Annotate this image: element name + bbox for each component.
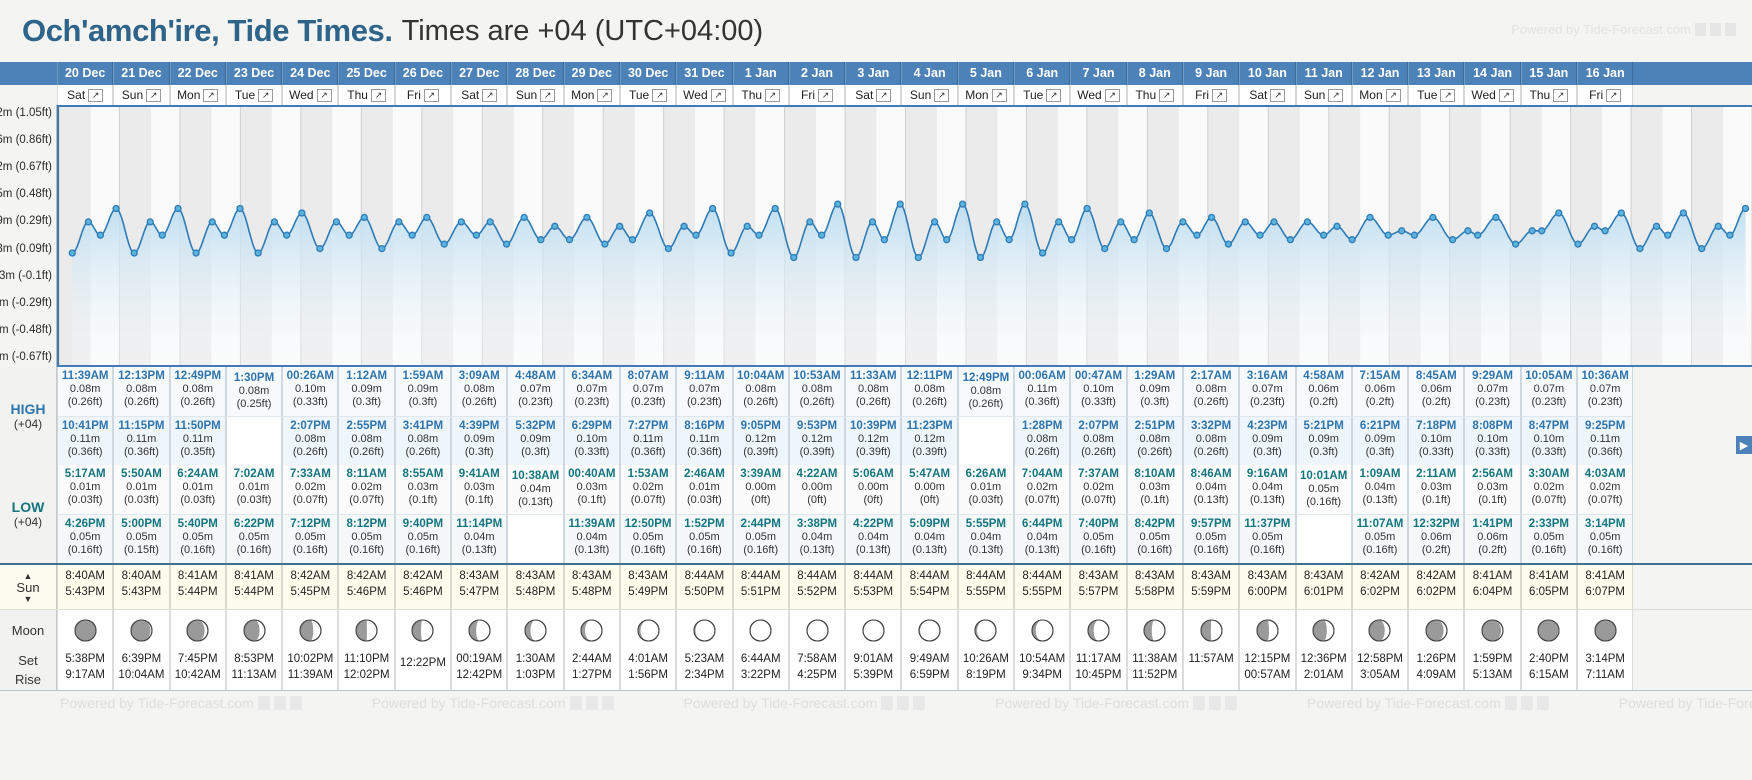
expand-icon[interactable]: ↗ [652,89,667,102]
scroll-right-button[interactable]: ▶ [1736,436,1752,454]
high-tide-cell: 1:59AM0.09m(0.3ft) [395,367,451,416]
date-header-cell[interactable]: 30 Dec [620,62,676,85]
high-tide-cell: 8:16PM0.11m(0.36ft) [676,416,732,465]
moon-phase-icon [637,619,660,642]
high-tide-point [113,206,119,212]
footer-watermark-icon [1193,696,1205,710]
high-tide-cell: 1:29AM0.09m(0.3ft) [1127,367,1183,416]
high-tide-height-ft: (0.3ft) [452,446,506,459]
low-tide-point [978,255,984,261]
high-tide-height-ft: (0.3ft) [1240,446,1294,459]
expand-icon[interactable]: ↗ [992,89,1007,102]
moon-phase-icon [130,619,153,642]
footer-watermark-label: Powered by Tide-Forecast.com [1307,695,1501,711]
low-tide-cell: 5:00PM0.05m(0.15ft) [113,514,169,563]
low-tide-column: 2:56AM0.03m(0.1ft)1:41PM0.06m(0.2ft) [1464,465,1520,563]
sunrise-time: 8:43AM [1128,570,1182,582]
moon-cell [1521,610,1577,650]
high-tide-cell: 10:53AM0.08m(0.26ft) [789,367,845,416]
low-tide-point [1194,232,1200,238]
high-tide-time: 8:47PM [1522,420,1576,433]
weekday-cell: Mon↗ [170,85,226,105]
low-tide-point [473,232,479,238]
high-tide-time: 8:08PM [1465,420,1519,433]
high-tide-height-m: 0.11m [114,433,168,446]
low-tide-column: 4:03AM0.02m(0.07ft)3:14PM0.05m(0.16ft) [1577,465,1633,563]
low-tide-height-ft: (0.1ft) [1465,494,1519,507]
high-tide-time: 9:25PM [1578,420,1632,433]
weekday-cell: Thu↗ [1127,85,1183,105]
date-header-cell[interactable]: 16 Jan [1577,62,1633,85]
low-tide-height-ft: (0.16ft) [1522,544,1576,557]
footer-watermark-icon [290,696,302,710]
low-tide-point [1385,232,1391,238]
expand-icon[interactable]: ↗ [1499,89,1514,102]
moonrise-time: 5:13AM [1465,669,1519,681]
high-tide-time: 00:47AM [1071,370,1125,383]
low-tide-height-m: 0.04m [790,531,844,544]
moon-cell [1577,610,1633,650]
low-tide-time: 2:46AM [677,468,731,481]
high-tide-height-ft: (0.2ft) [1297,396,1351,409]
low-tide-cell: 8:10AM0.03m(0.1ft) [1127,465,1183,514]
low-tide-point [131,250,137,256]
high-tide-time: 3:16AM [1240,370,1294,383]
high-tide-point [237,206,243,212]
moon-setrise-cell: 6:44AM3:22PM [733,650,789,690]
sunset-time: 5:44PM [227,586,281,598]
low-tide-point [693,232,699,238]
low-tide-time: 1:52PM [677,518,731,531]
moon-cell [282,610,338,650]
high-tide-point [1304,219,1310,225]
footer-watermark-group: Powered by Tide-Forecast.com [372,695,614,711]
low-tide-column: 4:22AM0.00m(0ft)3:38PM0.04m(0.13ft) [789,465,845,563]
moon-setrise-cell: 11:57AM [1183,650,1239,690]
low-tide-time: 6:24AM [171,468,225,481]
expand-icon[interactable]: ↗ [1270,89,1285,102]
moon-cell [1296,610,1352,650]
low-tide-height-m: 0.02m [1071,481,1125,494]
expand-icon[interactable]: ↗ [1105,89,1120,102]
high-tide-cell: 8:45AM0.06m(0.2ft) [1408,367,1464,416]
sunrise-time: 8:43AM [1184,570,1238,582]
expand-icon[interactable]: ↗ [876,89,891,102]
low-tide-height-m: 0.03m [1409,481,1463,494]
sunset-time: 5:48PM [565,586,619,598]
moon-setrise-cell: 11:38AM11:52PM [1127,650,1183,690]
sun-cell: 8:44AM5:55PM [958,565,1014,609]
low-tide-height-m: 0.05m [621,531,675,544]
low-tide-point [1665,232,1671,238]
moon-setrise-cell: 10:54AM9:34PM [1014,650,1070,690]
low-tide-cell: 7:40PM0.05m(0.16ft) [1070,514,1126,563]
sunset-time: 5:45PM [283,586,337,598]
expand-icon[interactable]: ↗ [540,89,555,102]
low-tide-height-ft: (0.1ft) [565,494,619,507]
low-tide-height-m: 0.05m [1353,531,1407,544]
high-tide-time: 3:41PM [396,420,450,433]
date-header-cell[interactable]: 24 Dec [282,62,338,85]
sunset-time: 5:44PM [171,586,225,598]
sunrise-time: 8:42AM [1409,570,1463,582]
high-tide-column: 3:09AM0.08m(0.26ft)4:39PM0.09m(0.3ft) [451,367,507,465]
date-header-cell[interactable]: 6 Jan [1014,62,1070,85]
weekday-cell: Sat↗ [57,85,113,105]
sunrise-time: 8:44AM [790,570,844,582]
date-header-cell[interactable]: 27 Dec [451,62,507,85]
date-header-cell[interactable]: 8 Jan [1127,62,1183,85]
sunrise-time: 8:41AM [1522,570,1576,582]
date-header-cell[interactable]: 13 Jan [1408,62,1464,85]
low-tide-point [1727,232,1733,238]
expand-icon[interactable]: ↗ [818,89,833,102]
low-tide-height-m: 0.05m [1522,531,1576,544]
moon-phase-icon [1256,619,1279,642]
high-tide-height-m: 0.08m [283,433,337,446]
low-tide-time: 9:40PM [396,518,450,531]
footer-watermark-icon [1505,696,1517,710]
high-tide-height-m: 0.08m [227,385,281,398]
date-header-cell[interactable]: 10 Jan [1239,62,1295,85]
sunrise-time: 8:42AM [283,570,337,582]
low-tide-time: 11:07AM [1353,518,1407,531]
low-tide-height-m: 0.05m [1240,531,1294,544]
high-tide-time: 9:53PM [790,420,844,433]
footer-watermark-label: Powered by Tide-Forecast.com [60,695,254,711]
expand-icon[interactable]: ↗ [597,89,612,102]
low-tide-height-ft: (0.07ft) [1015,494,1069,507]
expand-icon[interactable]: ↗ [1159,89,1174,102]
moon-cell [958,610,1014,650]
low-tide-height-ft: (0.16ft) [1353,544,1407,557]
high-tide-cell: 00:47AM0.10m(0.33ft) [1070,367,1126,416]
low-tide-time: 5:50AM [114,468,168,481]
high-tide-cell: 8:47PM0.10m(0.33ft) [1521,416,1577,465]
high-tide-cell: 3:41PM0.08m(0.26ft) [395,416,451,465]
low-tide-column: 8:10AM0.03m(0.1ft)8:42PM0.05m(0.16ft) [1127,465,1183,563]
expand-icon[interactable]: ↗ [317,89,332,102]
date-header-cell[interactable]: 25 Dec [338,62,394,85]
moon-phase-icon [1368,619,1391,642]
watermark-icon-3 [1725,23,1736,36]
y-axis-tick: 0.09m (0.29ft) [0,215,52,227]
expand-icon[interactable]: ↗ [371,89,386,102]
high-tide-point [1743,206,1749,212]
weekday-label: Fri [1195,88,1209,102]
expand-icon[interactable]: ↗ [424,89,439,102]
low-tide-column: 00:40AM0.03m(0.1ft)11:39AM0.04m(0.13ft) [564,465,620,563]
low-tide-time: 4:26PM [58,518,112,531]
expand-icon[interactable]: ↗ [1606,89,1621,102]
expand-icon[interactable]: ↗ [482,89,497,102]
date-header-cell[interactable]: 28 Dec [507,62,563,85]
high-tide-height-ft: (0.39ft) [734,446,788,459]
moonset-time: 7:45PM [171,653,225,665]
moon-setrise-cell: 3:14PM7:11AM [1577,650,1633,690]
low-tide-column: 6:24AM0.01m(0.03ft)5:40PM0.05m(0.16ft) [170,465,226,563]
high-tide-time: 2:07PM [1071,420,1125,433]
moon-phase-icon [749,619,772,642]
low-tide-height-m: 0.02m [283,481,337,494]
sun-cell: 8:43AM5:48PM [507,565,563,609]
high-tide-height-m: 0.07m [565,383,619,396]
expand-icon[interactable]: ↗ [711,89,726,102]
footer-watermark-icon [897,696,909,710]
moon-cell [170,610,226,650]
high-tide-height-ft: (0.36ft) [114,446,168,459]
high-tide-column: 4:58AM0.06m(0.2ft)5:21PM0.09m(0.3ft) [1296,367,1352,465]
date-header-cell[interactable]: 2 Jan [789,62,845,85]
high-tide-height-m: 0.11m [171,433,225,446]
high-tide-point [209,219,215,225]
high-tide-cell: 9:11AM0.07m(0.23ft) [676,367,732,416]
high-tide-height-ft: (0.39ft) [846,446,900,459]
low-tide-height-ft: (0.13ft) [1353,494,1407,507]
date-header-cell[interactable]: 12 Jan [1352,62,1408,85]
sunset-time: 5:48PM [508,586,562,598]
sunrise-time: 8:43AM [621,570,675,582]
low-tide-cell: 5:55PM0.04m(0.13ft) [958,514,1014,563]
low-tide-height-ft: (0.16ft) [283,544,337,557]
moonrise-time: 3:05AM [1353,669,1407,681]
low-tide-column: 2:11AM0.03m(0.1ft)12:32PM0.06m(0.2ft) [1408,465,1464,563]
date-header-cell[interactable]: 5 Jan [958,62,1014,85]
low-tide-height-ft: (0.13ft) [959,544,1013,557]
low-label-tz: (+04) [14,515,42,529]
low-tide-point [193,250,199,256]
low-tide-height-m: 0.03m [565,481,619,494]
moon-cell [1127,610,1183,650]
low-tide-cell: 12:32PM0.06m(0.2ft) [1408,514,1464,563]
low-tide-height-m: 0.02m [1578,481,1632,494]
low-tide-cell: 4:22AM0.00m(0ft) [789,465,845,514]
low-tide-height-m: 0.05m [677,531,731,544]
high-tide-time: 8:07AM [621,370,675,383]
high-tide-time: 10:53AM [790,370,844,383]
high-tide-height-m: 0.06m [1353,383,1407,396]
sun-cell: 8:40AM5:43PM [57,565,113,609]
high-tide-point [1654,223,1660,229]
low-tide-height-ft: (0.03ft) [58,494,112,507]
expand-icon[interactable]: ↗ [1386,89,1401,102]
high-tide-height-ft: (0.26ft) [283,446,337,459]
high-tide-cell: 9:29AM0.07m(0.23ft) [1464,367,1520,416]
high-tide-time: 4:23PM [1240,420,1294,433]
weekday-cell: Sun↗ [901,85,957,105]
high-tide-column: 12:49PM0.08m(0.26ft)11:50PM0.11m(0.35ft) [170,367,226,465]
low-tide-height-m: 0.01m [171,481,225,494]
low-tide-point [1069,237,1075,243]
moonrise-time: 2:01AM [1297,669,1351,681]
moon-phase-icon [1312,619,1335,642]
moon-phase-icon [299,619,322,642]
sun-label: ▲ Sun ▼ [0,565,57,609]
moon-phase-icon [355,619,378,642]
low-tide-height-m: 0.04m [846,531,900,544]
weekday-label: Mon [1359,88,1382,102]
low-tide-time: 6:22PM [227,518,281,531]
low-tide-time: 11:37PM [1240,518,1294,531]
low-tide-column: 7:02AM0.01m(0.03ft)6:22PM0.05m(0.16ft) [226,465,282,563]
expand-icon[interactable]: ↗ [146,89,161,102]
low-tide-point [1225,241,1231,247]
expand-icon[interactable]: ↗ [934,89,949,102]
moon-setrise-cell: 2:44AM1:27PM [564,650,620,690]
expand-icon[interactable]: ↗ [203,89,218,102]
sun-cell: 8:43AM5:57PM [1070,565,1126,609]
footer-watermark-label: Powered by Tide-Forecast.com [1619,695,1752,711]
high-tide-time: 00:06AM [1015,370,1069,383]
weekday-cell: Tue↗ [226,85,282,105]
expand-icon[interactable]: ↗ [1212,89,1227,102]
low-tide-point [791,255,797,261]
sun-cell: 8:42AM5:46PM [395,565,451,609]
high-tide-height-ft: (0.23ft) [1578,396,1632,409]
sunset-time: 6:07PM [1578,586,1632,598]
date-header-cell[interactable]: 26 Dec [395,62,451,85]
high-tide-height-m: 0.06m [1409,383,1463,396]
high-tide-time: 1:30PM [227,372,281,385]
high-tide-time: 2:17AM [1184,370,1238,383]
high-tide-point [552,223,558,229]
high-tide-cell [958,416,1014,465]
sun-cell: 8:42AM6:02PM [1408,565,1464,609]
moon-phase-icon [1481,619,1504,642]
expand-icon[interactable]: ↗ [88,89,103,102]
low-tide-point [1040,250,1046,256]
low-tide-height-ft: (0.13ft) [1015,544,1069,557]
low-tide-time: 4:22PM [846,518,900,531]
expand-icon[interactable]: ↗ [1328,89,1343,102]
date-header-cell[interactable]: 9 Jan [1183,62,1239,85]
high-tide-height-m: 0.12m [790,433,844,446]
high-tide-cell: 4:39PM0.09m(0.3ft) [451,416,507,465]
high-tide-point [617,223,623,229]
low-tide-column: 8:11AM0.02m(0.07ft)8:12PM0.05m(0.16ft) [338,465,394,563]
low-tide-height-m: 0.05m [1128,531,1182,544]
low-tide-cell: 6:24AM0.01m(0.03ft) [170,465,226,514]
weekday-label: Mon [177,88,200,102]
high-tide-cell: 10:04AM0.08m(0.26ft) [733,367,789,416]
high-tide-time: 7:15AM [1353,370,1407,383]
weekday-cell: Sat↗ [845,85,901,105]
high-tide-height-ft: (0.36ft) [58,446,112,459]
low-tide-point [538,237,544,243]
date-header-cell[interactable]: 21 Dec [113,62,169,85]
low-tide-height-ft: (0.13ft) [790,544,844,557]
moonset-time: 12:58PM [1353,653,1407,665]
high-tide-point [835,201,841,207]
high-tide-point [1529,228,1535,234]
expand-icon[interactable]: ↗ [1440,89,1455,102]
high-tide-time: 2:51PM [1128,420,1182,433]
expand-icon[interactable]: ↗ [765,89,780,102]
date-header-cell[interactable]: 29 Dec [564,62,620,85]
sun-cell: 8:42AM6:02PM [1352,565,1408,609]
high-tide-height-ft: (0.3ft) [339,396,393,409]
high-tide-point [681,223,687,229]
date-header-cell[interactable]: 1 Jan [733,62,789,85]
date-header-cell[interactable]: 22 Dec [170,62,226,85]
moonset-time: 12:15PM [1240,653,1294,665]
sunrise-time: 8:40AM [114,570,168,582]
moon-phase-icon [693,619,716,642]
low-tide-point [159,232,165,238]
expand-icon[interactable]: ↗ [1553,89,1568,102]
high-tide-height-m: 0.06m [1297,383,1351,396]
low-tide-time: 3:38PM [790,518,844,531]
low-tide-height-m: 0.02m [621,481,675,494]
low-tide-cell: 4:03AM0.02m(0.07ft) [1577,465,1633,514]
date-header-cell[interactable]: 15 Jan [1521,62,1577,85]
date-header-cell[interactable]: 7 Jan [1070,62,1126,85]
date-header-cell[interactable]: 31 Dec [676,62,732,85]
low-tide-point [284,232,290,238]
low-tide-time: 12:32PM [1409,518,1463,531]
low-tide-point [255,250,261,256]
date-header-cell[interactable]: 11 Jan [1296,62,1352,85]
date-header-cell[interactable]: 14 Jan [1464,62,1520,85]
moon-phase-icon [411,619,434,642]
moon-cell [1014,610,1070,650]
low-tide-cell: 10:01AM0.05m(0.16ft) [1296,465,1352,514]
moonrise-time: 12:22PM [396,657,450,669]
high-tide-cell: 2:17AM0.08m(0.26ft) [1183,367,1239,416]
low-tide-cell: 11:07AM0.05m(0.16ft) [1352,514,1408,563]
high-tide-height-m: 0.10m [1465,433,1519,446]
low-tide-time: 1:41PM [1465,518,1519,531]
sunrise-time: 8:43AM [565,570,619,582]
sunrise-time: 8:42AM [1353,570,1407,582]
date-header-cell[interactable]: 3 Jan [845,62,901,85]
low-tide-cell: 2:11AM0.03m(0.1ft) [1408,465,1464,514]
high-tide-time: 12:13PM [114,370,168,383]
weekday-cell: Sun↗ [113,85,169,105]
low-tide-cell: 11:37PM0.05m(0.16ft) [1239,514,1295,563]
high-tide-point [932,219,938,225]
moon-cell [338,610,394,650]
date-header-cell[interactable]: 23 Dec [226,62,282,85]
high-tide-cell: 10:05AM0.07m(0.23ft) [1521,367,1577,416]
low-tide-height-m: 0.02m [1522,481,1576,494]
low-label-text: LOW [12,499,45,515]
low-tide-height-m: 0.06m [1409,531,1463,544]
moon-cell [733,610,789,650]
moon-setrise-cell: 00:19AM12:42PM [451,650,507,690]
low-tide-cell: 5:06AM0.00m(0ft) [845,465,901,514]
high-tide-point [458,219,464,225]
high-tide-time: 2:07PM [283,420,337,433]
high-tide-height-ft: (0.23ft) [621,396,675,409]
expand-icon[interactable]: ↗ [1046,89,1061,102]
low-tide-cell: 9:41AM0.03m(0.1ft) [451,465,507,514]
high-tide-height-ft: (0.26ft) [1015,446,1069,459]
date-header-cell[interactable]: 20 Dec [57,62,113,85]
sunset-time: 5:43PM [58,586,112,598]
high-tide-height-m: 0.10m [283,383,337,396]
low-tide-point [1539,228,1545,234]
high-tide-cell: 10:39PM0.12m(0.39ft) [845,416,901,465]
high-tide-height-ft: (0.33ft) [283,396,337,409]
moon-cell [1352,610,1408,650]
moon-setrise-label: Set Rise [0,650,57,690]
expand-icon[interactable]: ↗ [258,89,273,102]
high-tide-point [361,214,367,220]
low-tide-cell: 5:47AM0.00m(0ft) [901,465,957,514]
moon-cell [1183,610,1239,650]
date-header-cell[interactable]: 4 Jan [901,62,957,85]
